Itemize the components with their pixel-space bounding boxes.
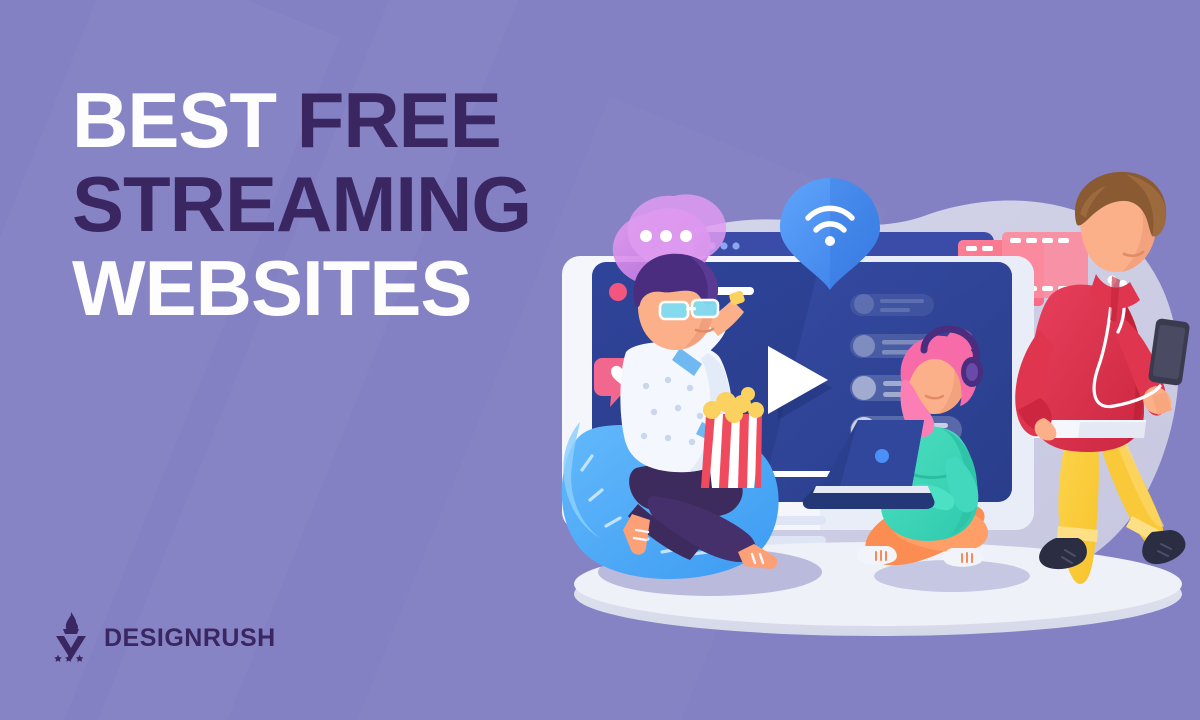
headline-word-best: BEST xyxy=(72,76,297,164)
list-item[interactable] xyxy=(850,294,934,316)
window-dot xyxy=(732,242,739,249)
headline-word-streaming: STREAMING xyxy=(72,160,531,248)
banner-canvas: BEST FREE STREAMING WEBSITES DESIGNRUSH xyxy=(0,0,1200,720)
headline-line-2: STREAMING xyxy=(72,162,692,246)
headline-line-3: WEBSITES xyxy=(72,246,692,330)
logo-stars xyxy=(54,655,83,662)
headline-word-free: FREE xyxy=(297,76,501,164)
headline-line-1: BEST FREE xyxy=(72,78,692,162)
brand-logo[interactable]: DESIGNRUSH xyxy=(50,610,276,666)
brand-name: DESIGNRUSH xyxy=(104,624,276,653)
headline-word-websites: WEBSITES xyxy=(72,244,471,332)
torch-flame-v-icon xyxy=(50,610,92,666)
page-title: BEST FREE STREAMING WEBSITES xyxy=(72,78,692,330)
laptop-logo-icon xyxy=(875,449,889,463)
popcorn-bucket xyxy=(701,387,764,488)
